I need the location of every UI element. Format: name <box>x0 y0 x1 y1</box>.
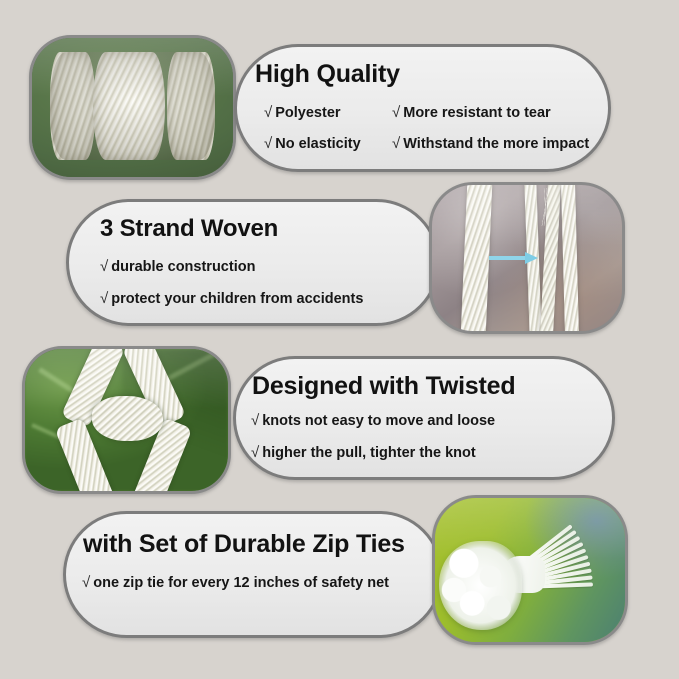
three-strand-photo <box>429 182 625 334</box>
feature-panel-designed-with-twisted: Designed with Twisted √knots not easy to… <box>233 356 615 480</box>
check-icon: √ <box>392 104 400 121</box>
feature-headline: Designed with Twisted <box>252 372 515 401</box>
check-icon: √ <box>264 104 272 121</box>
feature-bullet: √No elasticity <box>264 135 361 152</box>
feature-headline: 3 Strand Woven <box>100 215 278 243</box>
feature-panel-three-strand-woven: 3 Strand Woven √durable construction √pr… <box>66 199 440 326</box>
knot-center <box>92 396 163 441</box>
feature-bullet-label: higher the pull, tighter the knot <box>262 445 475 461</box>
check-icon: √ <box>251 444 259 461</box>
feature-bullet-label: knots not easy to move and loose <box>262 413 495 429</box>
feature-bullet-label: protect your children from accidents <box>111 291 363 307</box>
feature-row-designed-with-twisted: Designed with Twisted √knots not easy to… <box>0 344 679 496</box>
feature-row-three-strand-woven: 3 Strand Woven √durable construction √pr… <box>0 182 679 337</box>
feature-bullet: √protect your children from accidents <box>100 290 363 307</box>
feature-bullet-label: No elasticity <box>275 136 360 152</box>
check-icon: √ <box>392 135 400 152</box>
feature-bullet: √durable construction <box>100 258 255 275</box>
zip-tie-heads-cluster <box>439 541 523 630</box>
feature-bullet: √one zip tie for every 12 inches of safe… <box>82 574 389 591</box>
feature-row-durable-zip-ties: with Set of Durable Zip Ties √one zip ti… <box>0 495 679 645</box>
rope-coil-shading <box>50 52 215 160</box>
feature-bullet: √Polyester <box>264 104 341 121</box>
feature-headline: with Set of Durable Zip Ties <box>83 530 405 559</box>
rope-loose-fibers <box>531 188 561 226</box>
rope-coil-photo <box>29 35 236 180</box>
knot-photo <box>22 346 231 494</box>
check-icon: √ <box>82 574 90 591</box>
check-icon: √ <box>264 135 272 152</box>
feature-row-high-quality: High Quality √Polyester √More resistant … <box>0 33 679 183</box>
rope-coil-graphic <box>50 52 215 160</box>
feature-bullet-label: Polyester <box>275 105 340 121</box>
check-icon: √ <box>100 290 108 307</box>
feature-bullet-label: More resistant to tear <box>403 105 550 121</box>
feature-headline: High Quality <box>255 60 400 89</box>
arrow-right-icon <box>489 254 538 262</box>
feature-bullet-label: one zip tie for every 12 inches of safet… <box>93 575 389 591</box>
feature-bullet-label: Withstand the more impact <box>403 136 589 152</box>
zip-ties-photo <box>432 495 628 645</box>
check-icon: √ <box>251 412 259 429</box>
feature-bullet: √knots not easy to move and loose <box>251 412 495 429</box>
feature-panel-high-quality: High Quality √Polyester √More resistant … <box>234 44 611 172</box>
product-feature-infographic: High Quality √Polyester √More resistant … <box>0 0 679 679</box>
check-icon: √ <box>100 258 108 275</box>
feature-bullet: √Withstand the more impact <box>392 135 589 152</box>
feature-bullet-label: durable construction <box>111 259 255 275</box>
feature-panel-durable-zip-ties: with Set of Durable Zip Ties √one zip ti… <box>63 511 443 638</box>
feature-bullet: √higher the pull, tighter the knot <box>251 444 476 461</box>
feature-bullet: √More resistant to tear <box>392 104 551 121</box>
